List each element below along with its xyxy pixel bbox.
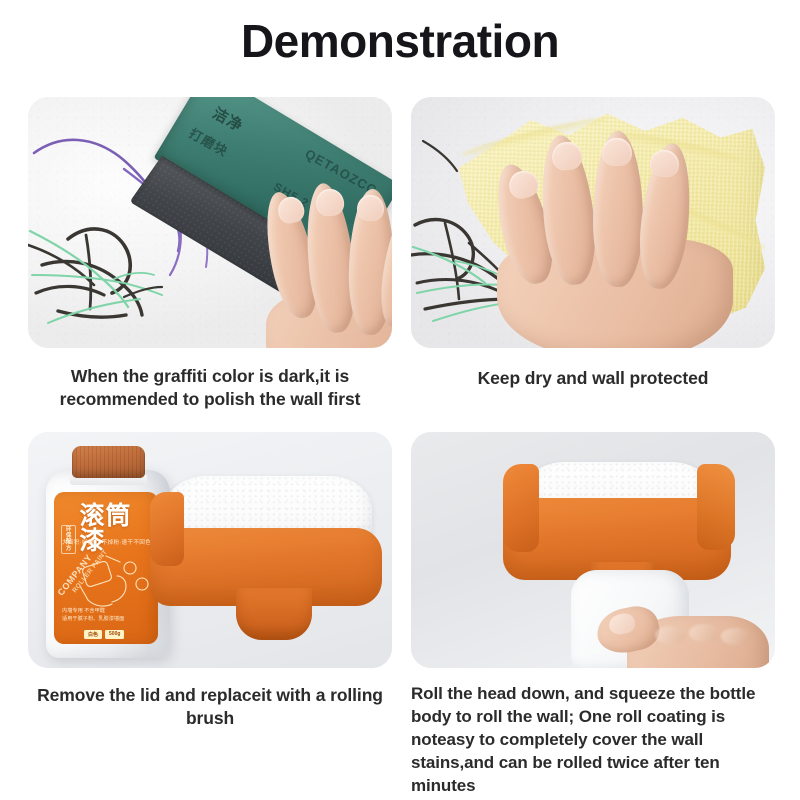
- step-card-keep-dry: Keep dry and wall protected: [411, 97, 775, 390]
- demonstration-page: Demonstration: [0, 0, 800, 800]
- step-card-replace-lid: 环保 配方 滚筒漆 大面积·好施工·不掉粉·速干不回色: [28, 432, 392, 731]
- fingernail: [357, 195, 385, 222]
- label-header: 环保 配方 滚筒漆: [61, 504, 151, 554]
- photo-bottle-and-roller-head: 环保 配方 滚筒漆 大面积·好施工·不掉粉·速干不回色: [28, 432, 392, 668]
- step-caption: Roll the head down, and squeeze the bott…: [411, 682, 775, 798]
- photo-rolling-on-wall: [411, 432, 775, 668]
- hand-wiping-wall: [495, 121, 745, 348]
- fingernail: [602, 138, 632, 166]
- label-tag-weight: 500g: [105, 630, 124, 639]
- label-footer-line-2: 适用于腻子粉、乳胶漆墙面: [62, 616, 150, 624]
- step-card-roll-wall: Roll the head down, and squeeze the bott…: [411, 432, 775, 798]
- step-caption: Remove the lid and replaceit with a roll…: [28, 684, 392, 731]
- hand-squeezing-bottle: [597, 592, 765, 668]
- step-caption: Keep dry and wall protected: [411, 367, 775, 390]
- page-title: Demonstration: [0, 14, 800, 68]
- knuckle: [655, 626, 685, 644]
- label-title: 滚筒漆: [79, 504, 151, 554]
- knuckle: [689, 624, 719, 642]
- roller-arm-left: [150, 492, 184, 566]
- step-caption: When the graffiti color is dark,it is re…: [28, 365, 392, 412]
- roller-arm-left: [503, 464, 539, 552]
- hand-holding-sanding-block: [260, 183, 392, 348]
- label-tag-color: 白色: [84, 630, 102, 639]
- label-subtitle: 大面积·好施工·不掉粉·速干不回色: [62, 538, 150, 546]
- photo-sanding-block-on-graffiti-wall: 洁净 打磨块 QETAOZCC SH5 2: [28, 97, 392, 348]
- label-footer: 内墙专用 不含甲醛 适用于腻子粉、乳胶漆墙面: [62, 608, 150, 624]
- step-card-polish-wall: 洁净 打磨块 QETAOZCC SH5 2 When the g: [28, 97, 392, 412]
- photo-hand-wiping-with-yellow-cloth: [411, 97, 775, 348]
- roller-arm-right: [697, 464, 735, 550]
- roller-brush-head: [150, 476, 382, 648]
- sanding-block-print-line-1: 洁净: [209, 102, 247, 136]
- label-tags: 白色 500g: [84, 630, 124, 639]
- bottle-cap: [72, 446, 145, 478]
- bottle-label: 环保 配方 滚筒漆 大面积·好施工·不掉粉·速干不回色: [54, 492, 158, 644]
- roller-connector-stem: [236, 588, 312, 640]
- knuckle: [721, 628, 749, 645]
